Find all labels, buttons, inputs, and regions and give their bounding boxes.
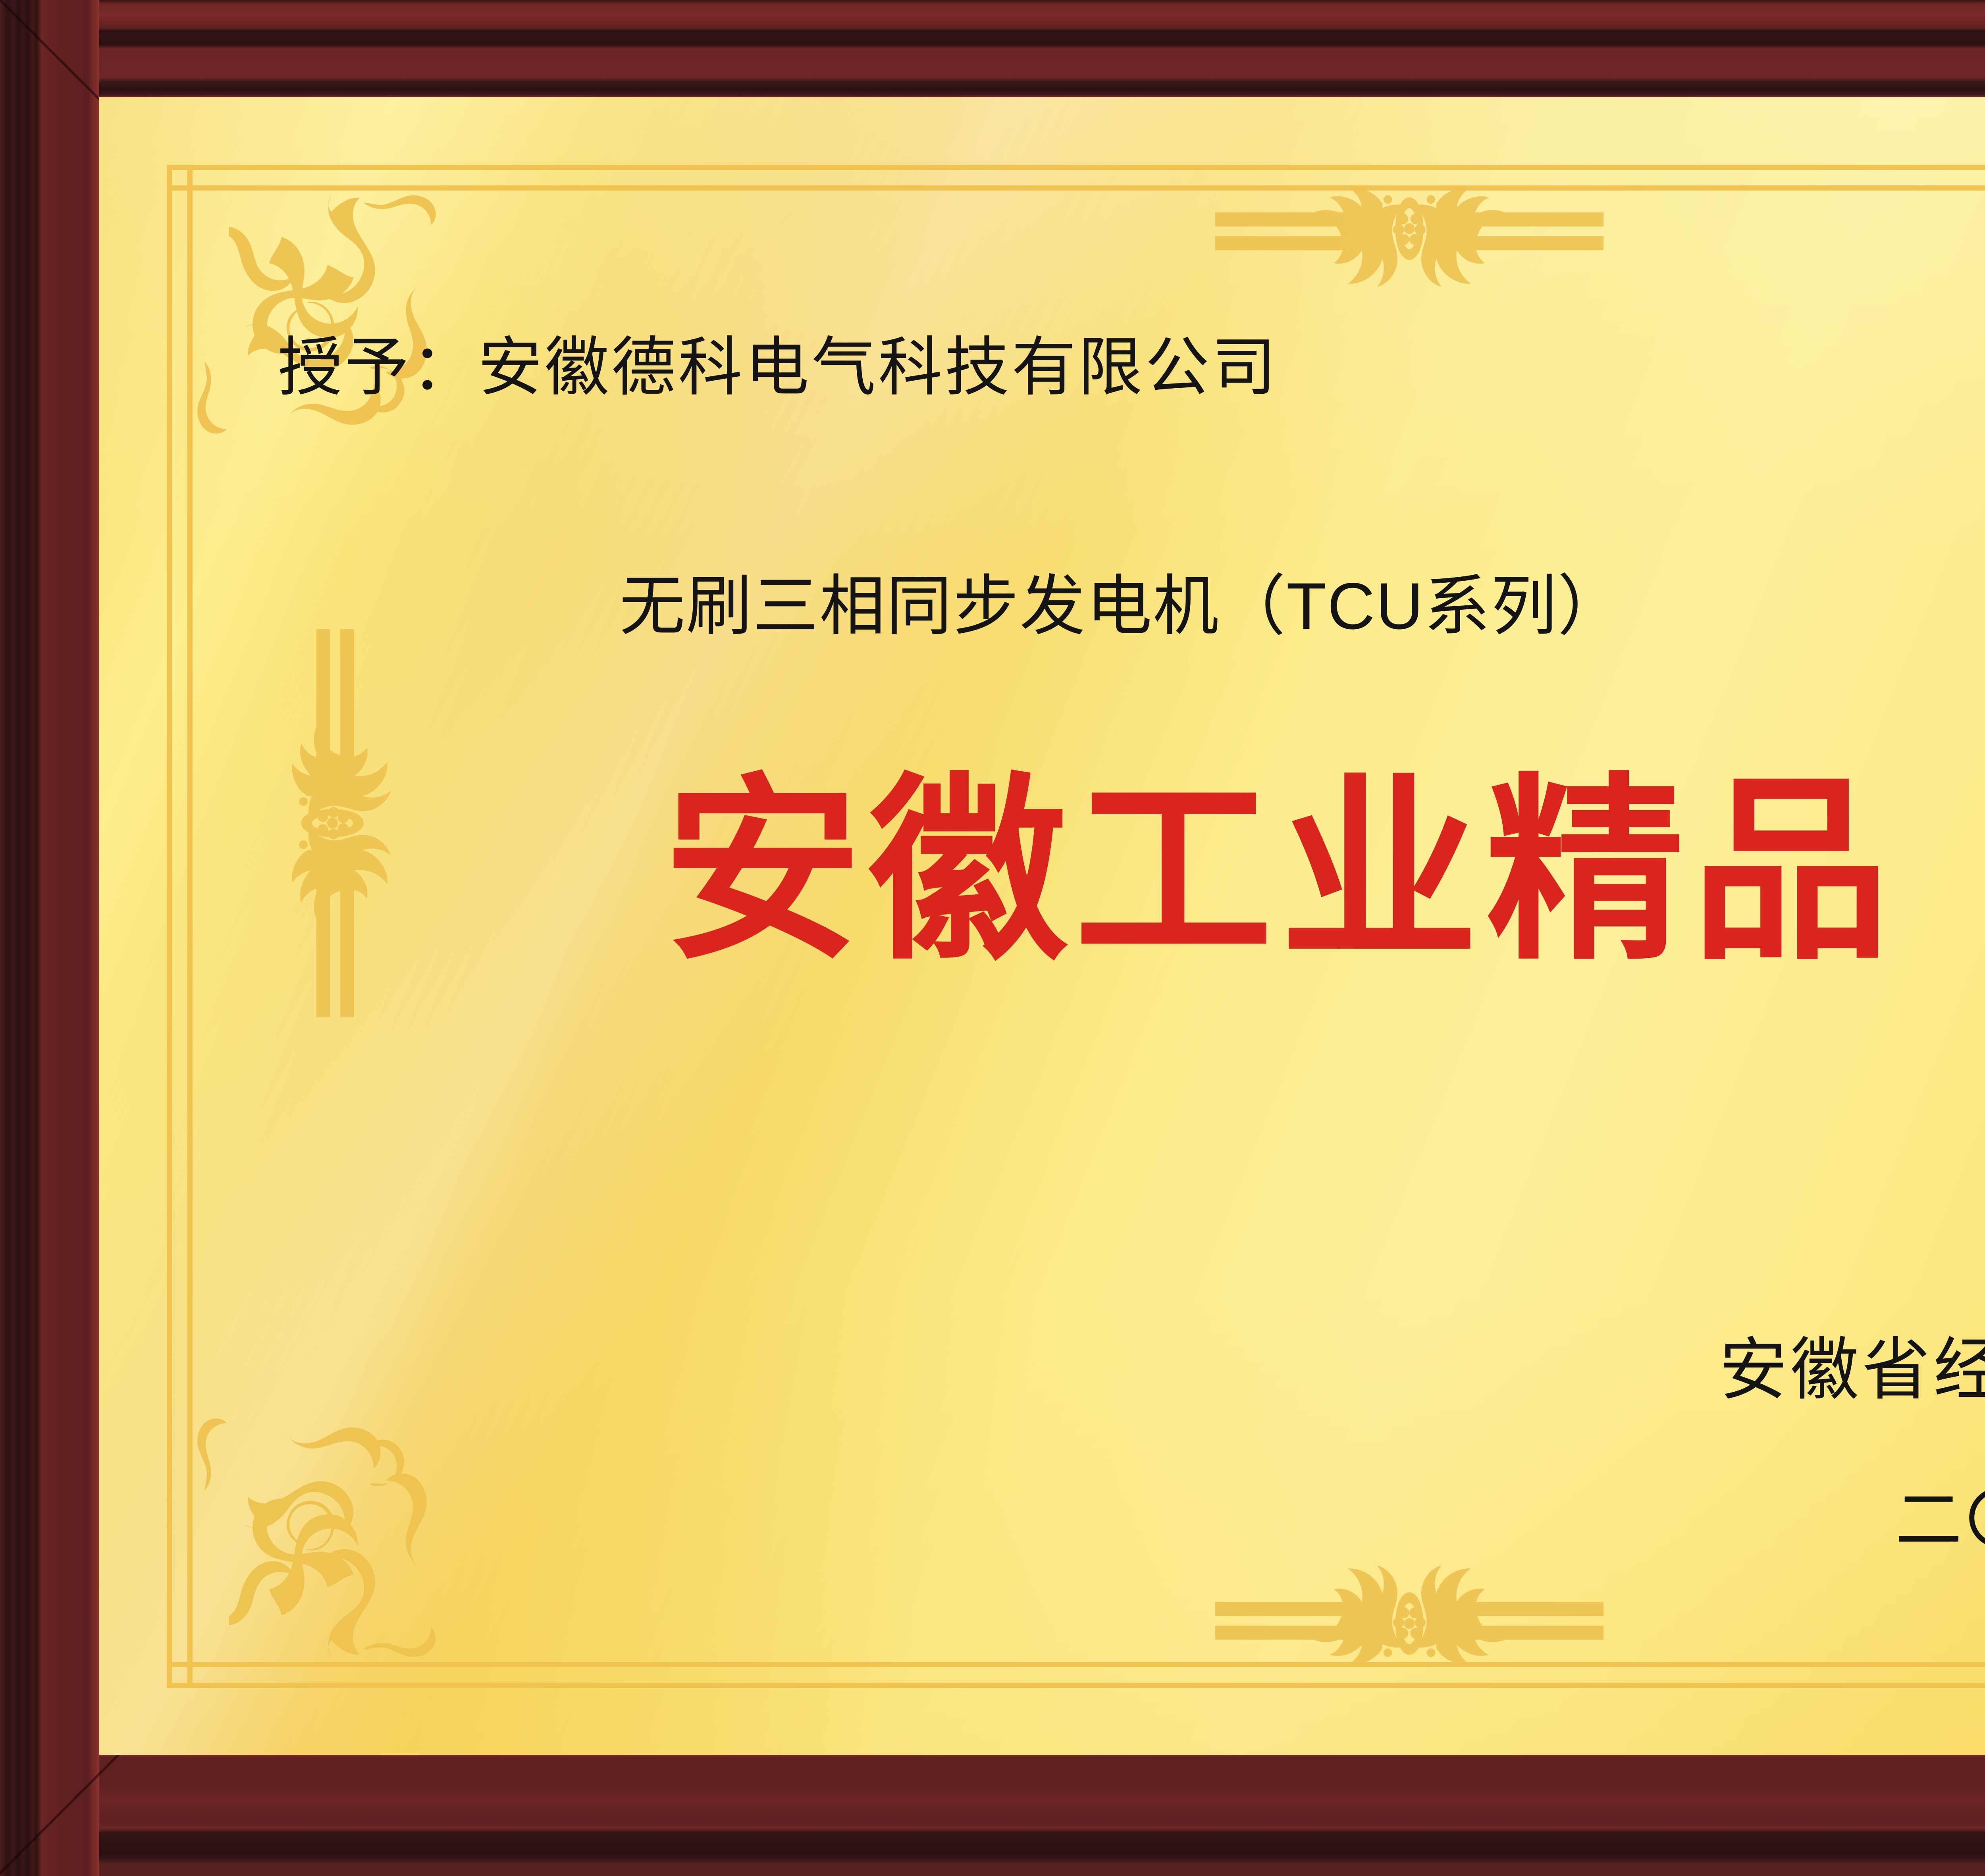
issue-date-line: 二〇二〇年十月 [1895, 1487, 1985, 1553]
award-recipient-line: 授予：安徽德科电气科技有限公司 [278, 335, 1278, 400]
award-plaque-frame: 授予：安徽德科电气科技有限公司 无刷三相同步发电机（TCU系列） 安徽工业精品 … [0, 0, 1985, 1876]
frame-top-rail [0, 0, 1985, 97]
product-name-line: 无刷三相同步发电机（TCU系列） [619, 574, 1624, 639]
issuing-authority-line: 安徽省经济和信息化厅 [1719, 1336, 1985, 1404]
award-main-title: 安徽工业精品 [663, 772, 1897, 971]
plaque-text-content: 授予：安徽德科电气科技有限公司 无刷三相同步发电机（TCU系列） 安徽工业精品 … [99, 97, 1985, 1755]
frame-bottom-rail [0, 1755, 1985, 1876]
frame-left-rail [0, 0, 99, 1876]
plaque-gold-face: 授予：安徽德科电气科技有限公司 无刷三相同步发电机（TCU系列） 安徽工业精品 … [99, 97, 1985, 1755]
